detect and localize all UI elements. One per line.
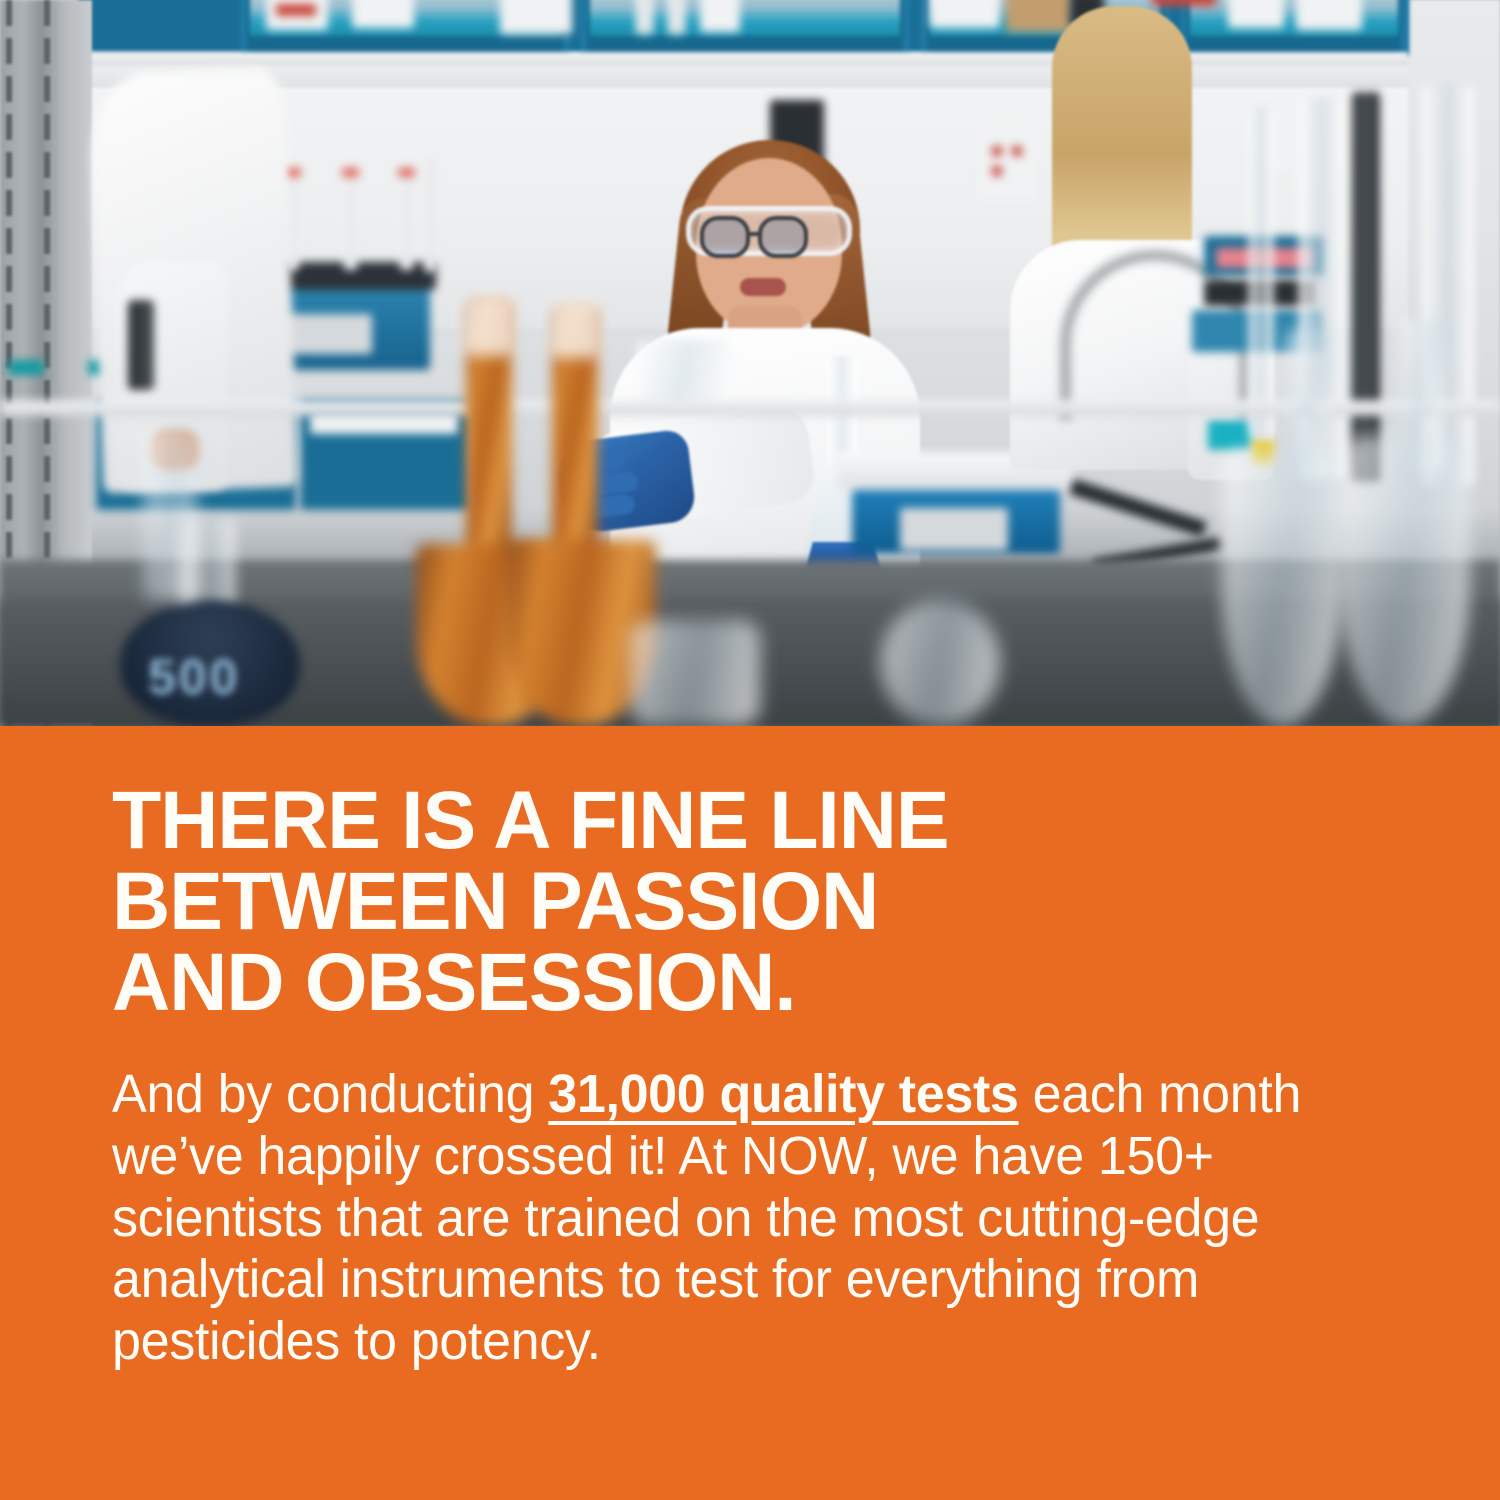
flask-stopper [548,300,600,358]
orange-text-panel: THERE IS A FINE LINE BETWEEN PASSION AND… [0,726,1500,1500]
shelf-item [1296,0,1362,30]
foreground-glassware [1340,436,1470,726]
shelf-item [352,0,414,28]
foreground-glassware [630,620,760,726]
scientist-mouth [740,278,786,296]
shelf-item [700,0,740,32]
foreground-glassware [1222,448,1342,726]
foreground-glassware-neck [1400,320,1444,470]
test-tube [344,172,357,270]
foreground-glassware-neck [1286,330,1330,480]
shelf-tube [636,0,653,34]
dark-column [1352,92,1380,482]
teal-tape-marker [8,360,44,375]
headline-line-2: BETWEEN PASSION [112,861,1393,942]
teal-item [1208,420,1252,450]
eyeglass-bridge [750,232,762,236]
body-emphasis-stat: 31,000 quality tests [548,1064,1018,1124]
bench-edge [0,400,1500,416]
tube-cap [342,168,359,177]
headline-line-3: AND OBSESSION. [112,942,1393,1023]
flask-volume-label: 500 [148,648,240,706]
held-bottle [128,300,154,390]
body-paragraph: And by conducting 31,000 quality tests e… [112,1064,1357,1373]
glass-cylinder [1248,108,1274,438]
test-tube [400,172,413,270]
eyeglass-lens-left [700,216,750,258]
body-lead: And by conducting [112,1064,548,1124]
foreground-dish [880,600,1000,726]
headline-line-1: THERE IS A FINE LINE [112,780,1393,861]
lab-photo: 500 [0,0,1500,726]
shelf-item [500,0,572,34]
poster-root: 500 THERE IS A FINE LINE BETWEEN PASSION… [0,0,1500,1500]
shelf-item [276,4,316,16]
headline: THERE IS A FINE LINE BETWEEN PASSION AND… [112,780,1393,1024]
tube-cap [398,168,415,177]
flask-stopper [462,296,514,356]
foreground-glassware-neck [144,430,196,600]
instrument-panel [900,508,1008,550]
shelf-tube [668,0,685,34]
test-tube [424,160,437,272]
eyeglass-lens-right [758,216,808,258]
shelf-item [930,0,1000,28]
